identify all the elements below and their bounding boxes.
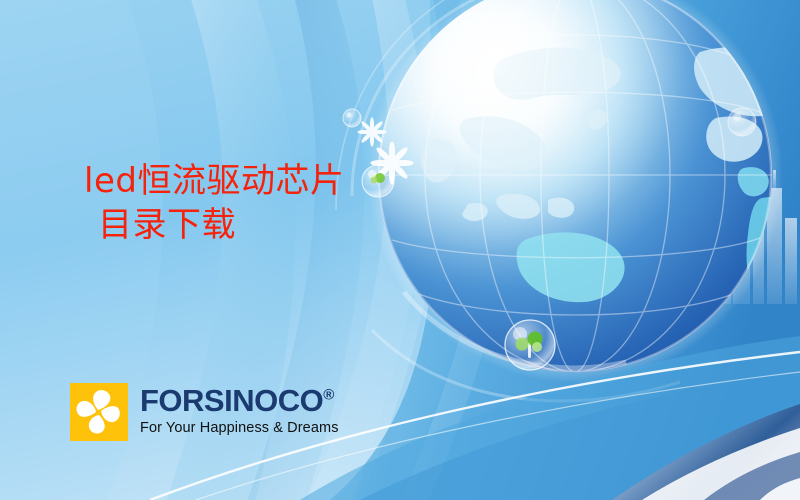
logo-wordmark: FORSINOCO®	[140, 385, 339, 416]
promo-banner: led恒流驱动芯片 目录下载 FORSINOCO® For Your Happi…	[0, 0, 800, 500]
logo-tagline: For Your Happiness & Dreams	[140, 421, 339, 436]
logo-wordmark-text: FORSINOCO	[140, 383, 323, 418]
headline-line-2: 目录下载	[84, 204, 344, 248]
registered-trademark-icon: ®	[323, 387, 334, 404]
four-petal-pinwheel-icon	[70, 383, 128, 441]
headline-block: led恒流驱动芯片 目录下载	[84, 160, 344, 247]
headline-line-1: led恒流驱动芯片	[84, 160, 344, 204]
company-logo[interactable]: FORSINOCO® For Your Happiness & Dreams	[70, 383, 339, 441]
logo-text-block: FORSINOCO® For Your Happiness & Dreams	[140, 383, 339, 436]
